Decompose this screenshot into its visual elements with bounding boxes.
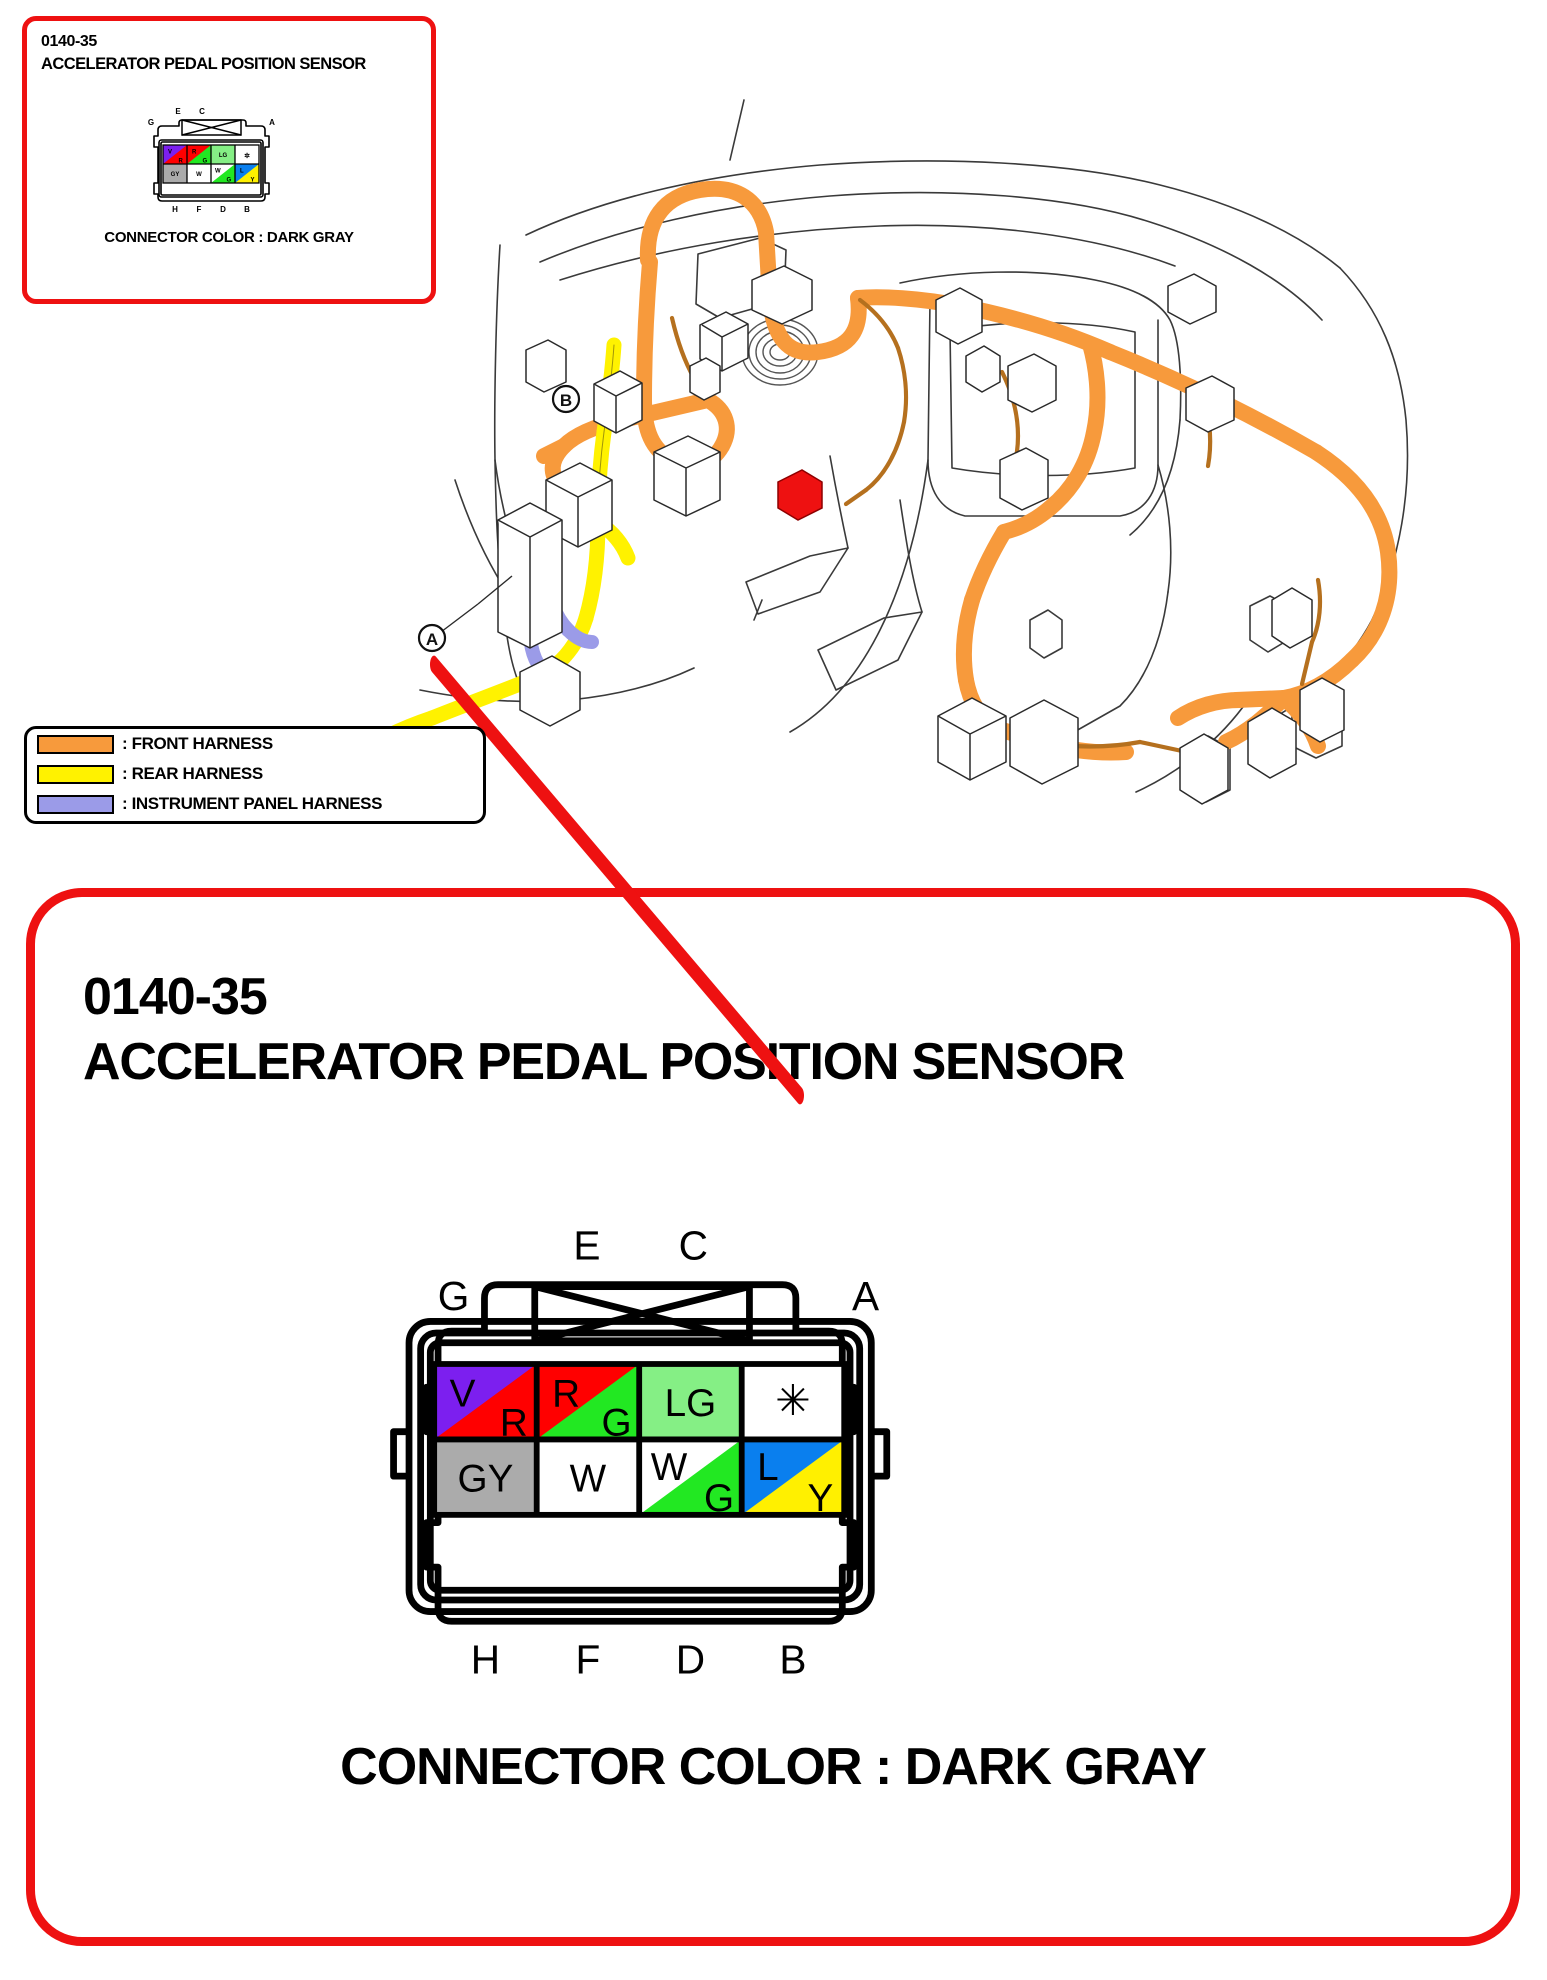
pin-label-H: H	[471, 1636, 500, 1682]
pin-wire-B-upper: L	[757, 1446, 779, 1489]
legend-swatch-front-harness	[37, 735, 114, 754]
connector-pinout-diagram: E C G A	[305, 1217, 985, 1687]
inset-pin-label-D: D	[220, 205, 226, 214]
panel-title-label: ACCELERATOR PEDAL POSITION SENSOR	[83, 1032, 1124, 1092]
legend-item-front-harness: : FRONT HARNESS	[37, 729, 483, 759]
harness-connector-blocks	[498, 266, 1344, 804]
legend-label-front-harness: : FRONT HARNESS	[122, 734, 273, 754]
inset-pin-label-F: F	[197, 205, 202, 214]
pin-wire-H: GY	[457, 1458, 513, 1501]
pin-label-F: F	[576, 1636, 601, 1682]
highlighted-connector-marker	[778, 470, 822, 520]
connector-detail-panel: 0140-35 ACCELERATOR PEDAL POSITION SENSO…	[26, 888, 1520, 1946]
pin-wire-A: ✳	[775, 1377, 811, 1425]
pin-wire-E-upper: R	[552, 1373, 580, 1416]
legend-swatch-instrument-panel-harness	[37, 795, 114, 814]
legend-swatch-rear-harness	[37, 765, 114, 784]
pin-label-C: C	[679, 1223, 708, 1269]
inset-connector-color-label: CONNECTOR COLOR : DARK GRAY	[27, 229, 431, 246]
panel-code-label: 0140-35	[83, 967, 267, 1027]
pin-wire-C: LG	[665, 1382, 717, 1425]
pin-wire-F: W	[570, 1458, 607, 1501]
pin-label-A: A	[852, 1273, 879, 1319]
svg-text:A: A	[426, 630, 438, 649]
inset-pin-label-B: B	[244, 205, 250, 214]
svg-text:LG: LG	[219, 153, 228, 159]
pin-label-B: B	[779, 1636, 806, 1682]
svg-text:W: W	[196, 172, 202, 178]
pin-grid: V R R G LG ✳	[434, 1364, 844, 1520]
svg-text:V: V	[168, 150, 172, 156]
inset-code-label: 0140-35	[41, 33, 97, 51]
legend-label-instrument-panel-harness: : INSTRUMENT PANEL HARNESS	[122, 794, 382, 814]
svg-text:GY: GY	[171, 172, 180, 178]
inset-pin-label-E: E	[175, 107, 181, 116]
svg-text:B: B	[560, 391, 572, 410]
inset-pin-label-G: G	[148, 118, 154, 127]
inset-pin-label-H: H	[172, 205, 178, 214]
svg-text:✲: ✲	[244, 152, 250, 160]
inset-pin-label-A: A	[269, 118, 275, 127]
marker-b: B	[553, 386, 579, 412]
legend-label-rear-harness: : REAR HARNESS	[122, 764, 263, 784]
inset-connector-diagram: E C G A V R	[127, 103, 297, 215]
harness-legend: : FRONT HARNESS : REAR HARNESS : INSTRUM…	[24, 726, 486, 824]
pin-label-G: G	[438, 1273, 470, 1319]
pin-label-D: D	[676, 1636, 705, 1682]
inset-pin-label-C: C	[199, 107, 205, 116]
inset-pin-grid: V R R G LG ✲ GY W W	[163, 145, 259, 184]
pin-wire-D-upper: W	[651, 1446, 688, 1489]
svg-text:R: R	[192, 150, 197, 156]
legend-item-instrument-panel-harness: : INSTRUMENT PANEL HARNESS	[37, 789, 483, 819]
connector-callout-inset: 0140-35 ACCELERATOR PEDAL POSITION SENSO…	[22, 16, 436, 304]
legend-item-rear-harness: : REAR HARNESS	[37, 759, 483, 789]
svg-text:L: L	[240, 169, 244, 175]
inset-title-label: ACCELERATOR PEDAL POSITION SENSOR	[41, 55, 366, 74]
connector-color-label: CONNECTOR COLOR : DARK GRAY	[35, 1737, 1511, 1797]
svg-text:W: W	[215, 169, 221, 175]
pin-label-E: E	[573, 1223, 600, 1269]
pin-wire-G-upper: V	[450, 1373, 476, 1416]
